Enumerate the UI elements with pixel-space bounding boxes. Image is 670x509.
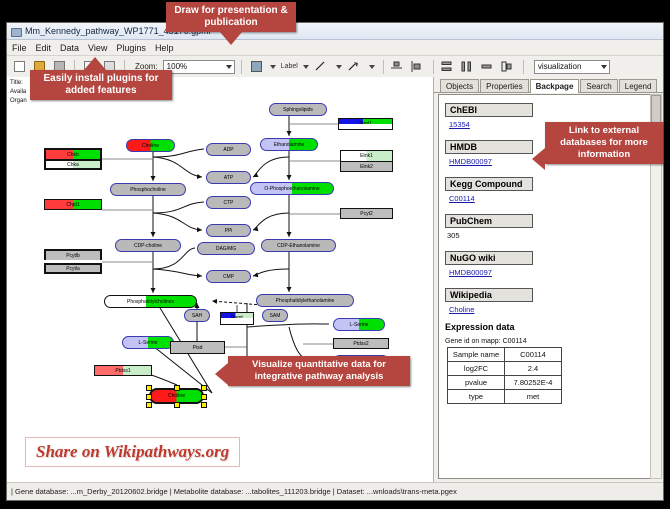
node-label: CMP <box>223 274 234 280</box>
callout-share: Share on Wikipathways.org <box>25 437 240 467</box>
callout-links-arrow <box>532 148 545 170</box>
callout-visualize-text: Visualize quantitative data for integrat… <box>228 356 410 386</box>
metabolite-node-l-serine-left[interactable]: L-Serine <box>122 336 174 349</box>
selection-handle[interactable] <box>201 394 207 400</box>
node-label: Sphingolipids <box>283 107 313 113</box>
menu-bar: File Edit Data View Plugins Help <box>7 40 663 56</box>
gene-node-pemt-lower <box>220 318 254 325</box>
callout-links-text: Link to external databases for more info… <box>545 122 663 164</box>
chevron-down-icon <box>601 65 607 69</box>
node-label: Ethanolamine <box>274 142 305 148</box>
gene-node-etnk2[interactable]: Etnk2 <box>340 161 393 172</box>
gene-node-pcytla[interactable]: Pcytla <box>44 263 102 274</box>
align-left-icon[interactable] <box>410 58 427 75</box>
db-value-pubchem: 305 <box>447 231 650 240</box>
node-label: Pcyt2 <box>360 211 373 217</box>
node-label: O-Phosphoethanolamine <box>264 186 319 192</box>
gene-id-label: Gene id on mapp: C00114 <box>445 338 650 345</box>
status-bar-text: | Gene database: ...m_Derby_20120602.bri… <box>11 487 457 496</box>
app-window-icon <box>10 26 21 37</box>
node-label: Choline <box>142 143 159 149</box>
status-bar: | Gene database: ...m_Derby_20120602.bri… <box>7 482 663 500</box>
tab-legend[interactable]: Legend <box>619 79 658 92</box>
metabolite-node-cmp[interactable]: CMP <box>206 270 251 283</box>
callout-links: Link to external databases for more info… <box>545 122 663 164</box>
metabolite-node-ppi[interactable]: PPi <box>206 224 251 237</box>
selection-handle[interactable] <box>201 385 207 391</box>
gene-node-pcytlb[interactable]: Pcytlb <box>44 249 102 260</box>
cell-key: type <box>448 390 505 404</box>
callout-share-text: Share on Wikipathways.org <box>26 438 239 466</box>
metabolite-node-dag-mg[interactable]: DAG/MG <box>197 242 255 255</box>
db-link-wikipedia[interactable]: Choline <box>449 305 650 314</box>
selection-handle[interactable] <box>174 385 180 391</box>
gene-node-chkb[interactable]: Chkb <box>44 148 102 159</box>
cell-key: log2FC <box>448 362 505 376</box>
node-label: SAM <box>270 313 281 319</box>
node-label: CDP-choline <box>134 243 162 249</box>
toolbar-separator <box>523 60 524 74</box>
selection-handle[interactable] <box>201 402 207 408</box>
callout-draw-arrow <box>220 32 242 45</box>
db-header-hmdb: HMDB <box>445 140 533 154</box>
cell-key: Sample name <box>448 348 505 362</box>
node-label: Chpt1 <box>66 202 79 208</box>
metabolite-node-phosphatidylcholines[interactable]: Phosphatidylcholines <box>104 295 197 308</box>
align-center-icon[interactable] <box>390 58 407 75</box>
node-label: Choline <box>168 393 185 399</box>
expression-data-heading: Expression data <box>445 322 650 332</box>
node-label: DAG/MG <box>216 246 236 252</box>
metabolite-node-sah[interactable]: SAH <box>184 309 210 322</box>
node-label: Ptdss2 <box>353 341 368 347</box>
table-row: Sample name C00114 <box>448 348 562 362</box>
menu-item-data[interactable]: Data <box>60 43 79 53</box>
node-label: Ptdss1 <box>115 368 130 374</box>
node-label: Etnk2 <box>360 164 373 170</box>
chevron-down-icon[interactable] <box>336 65 342 69</box>
metabolite-node-phosphocholine[interactable]: Phosphocholine <box>110 183 186 196</box>
menu-item-plugins[interactable]: Plugins <box>116 43 146 53</box>
zoom-combobox[interactable]: 100% <box>163 60 235 74</box>
cell-value: met <box>505 390 562 404</box>
tab-objects[interactable]: Objects <box>440 79 479 92</box>
toolbar-separator <box>241 60 242 74</box>
distribute-vertical-icon[interactable] <box>440 58 457 75</box>
table-row: pvalue 7.80252E-4 <box>448 376 562 390</box>
metabolite-node-choline[interactable]: Choline <box>126 139 175 152</box>
toolbar-separator <box>383 60 384 74</box>
metabolite-node-adp[interactable]: ADP <box>206 143 251 156</box>
table-row: log2FC 2.4 <box>448 362 562 376</box>
metabolite-node-cdp-choline[interactable]: CDP-choline <box>115 239 181 252</box>
node-label: Phosphatidylcholines <box>127 299 174 305</box>
gene-node-chka[interactable]: Chka <box>44 159 102 170</box>
metabolite-node-ethanolamine[interactable]: Ethanolamine <box>260 138 318 151</box>
metabolite-node-atp[interactable]: ATP <box>206 171 251 184</box>
node-label: Chkb <box>67 152 79 158</box>
text-tool-icon[interactable] <box>248 58 265 75</box>
db-header-kegg-compound: Kegg Compound <box>445 177 533 191</box>
node-label: Chka <box>67 162 79 168</box>
chevron-down-icon[interactable] <box>303 65 309 69</box>
menu-item-edit[interactable]: Edit <box>36 43 52 53</box>
callout-plugins-text: Easily install plugins for added feature… <box>30 70 172 100</box>
menu-item-view[interactable]: View <box>88 43 107 53</box>
node-label: CDP-Ethanolamine <box>277 243 320 249</box>
cell-key: pvalue <box>448 376 505 390</box>
distribute-horizontal-icon[interactable] <box>460 58 477 75</box>
gene-node-pcyt2[interactable]: Pcyt2 <box>340 208 393 219</box>
gene-node-pisd[interactable]: Pisd <box>170 341 225 354</box>
tab-backpage[interactable]: Backpage <box>530 79 580 93</box>
selection-handle[interactable] <box>146 394 152 400</box>
selection-handle[interactable] <box>146 402 152 408</box>
db-header-pubchem: PubChem <box>445 214 533 228</box>
callout-plugins: Easily install plugins for added feature… <box>30 70 172 100</box>
tab-search[interactable]: Search <box>580 79 617 92</box>
node-label: L-Serine <box>350 322 369 328</box>
screenshot-root: Mm_Kennedy_pathway_WP1771_45176.gpml Fil… <box>0 0 670 509</box>
cell-value: 7.80252E-4 <box>505 376 562 390</box>
metabolite-node-sam[interactable]: SAM <box>262 309 288 322</box>
selection-handle[interactable] <box>146 385 152 391</box>
tab-properties[interactable]: Properties <box>480 79 528 92</box>
cell-value: 2.4 <box>505 362 562 376</box>
chevron-down-icon <box>226 65 232 69</box>
window-titlebar: Mm_Kennedy_pathway_WP1771_45176.gpml <box>7 23 663 40</box>
node-label: Pisd <box>193 345 203 351</box>
node-label: Pcytlb <box>66 253 80 259</box>
new-file-icon[interactable] <box>11 58 28 75</box>
metabolite-node-l-serine-right[interactable]: L-Serine <box>333 318 385 331</box>
arrow-tool-icon[interactable] <box>347 58 364 75</box>
node-label: PPi <box>225 228 233 234</box>
metabolite-node-cdp-ethanolamine[interactable]: CDP-Ethanolamine <box>261 239 336 252</box>
node-label: Etnk1 <box>360 153 373 159</box>
label-tool-label: Label <box>281 63 298 70</box>
callout-visualize-arrow <box>215 363 228 385</box>
node-label: CTP <box>224 200 234 206</box>
node-label: Phosphocholine <box>130 187 166 193</box>
callout-plugins-arrow <box>84 57 106 70</box>
node-label: ADP <box>223 147 233 153</box>
callout-visualize: Visualize quantitative data for integrat… <box>228 356 410 386</box>
gene-node-sgpl1-lower <box>338 124 393 130</box>
callout-draw-text: Draw for presentation & publication <box>166 2 296 32</box>
callout-draw: Draw for presentation & publication <box>166 2 296 32</box>
gene-node-chpt1[interactable]: Chpt1 <box>44 199 102 210</box>
db-header-nugo-wiki: NuGO wiki <box>445 251 533 265</box>
visualization-combobox[interactable]: visualization <box>534 60 610 74</box>
selection-handle[interactable] <box>174 402 180 408</box>
stack-icon[interactable] <box>480 58 497 75</box>
visualization-value: visualization <box>538 62 582 71</box>
node-label: ATP <box>224 175 233 181</box>
metabolite-node-ctp[interactable]: CTP <box>206 196 251 209</box>
db-link-kegg-compound[interactable]: C00114 <box>449 194 650 203</box>
metabolite-node-phosphatidylethanolamine[interactable]: Phosphatidylethanolamine <box>256 294 354 307</box>
node-label: Phosphatidylethanolamine <box>276 298 335 304</box>
side-panel-tabs: Objects Properties Backpage Search Legen… <box>434 77 663 93</box>
gene-node-ptdss2[interactable]: Ptdss2 <box>333 338 389 349</box>
table-row: type met <box>448 390 562 404</box>
node-label: L-Serine <box>139 340 158 346</box>
gene-node-etnk1[interactable]: Etnk1 <box>340 150 393 161</box>
toolbar-separator <box>433 60 434 74</box>
pathway-canvas[interactable]: Title: Availa Organ <box>7 77 434 483</box>
node-label: SAH <box>192 313 202 319</box>
node-label: Pcytla <box>66 266 80 272</box>
chevron-down-icon[interactable] <box>270 65 276 69</box>
db-header-wikipedia: Wikipedia <box>445 288 533 302</box>
gene-node-ptdss1[interactable]: Ptdss1 <box>94 365 152 376</box>
menu-item-file[interactable]: File <box>12 43 27 53</box>
menu-item-help[interactable]: Help <box>155 43 174 53</box>
order-icon[interactable] <box>500 58 517 75</box>
line-tool-icon[interactable] <box>314 58 331 75</box>
db-link-nugo-wiki[interactable]: HMDB00097 <box>449 268 650 277</box>
chevron-down-icon[interactable] <box>369 65 375 69</box>
expression-table: Sample name C00114 log2FC 2.4 pvalue 7.8… <box>447 347 562 404</box>
cell-value: C00114 <box>505 348 562 362</box>
db-header-chebi: ChEBI <box>445 103 533 117</box>
metabolite-node-sphingolipids[interactable]: Sphingolipids <box>269 103 327 116</box>
metabolite-node-o-phosphoethanolamine[interactable]: O-Phosphoethanolamine <box>250 182 334 195</box>
